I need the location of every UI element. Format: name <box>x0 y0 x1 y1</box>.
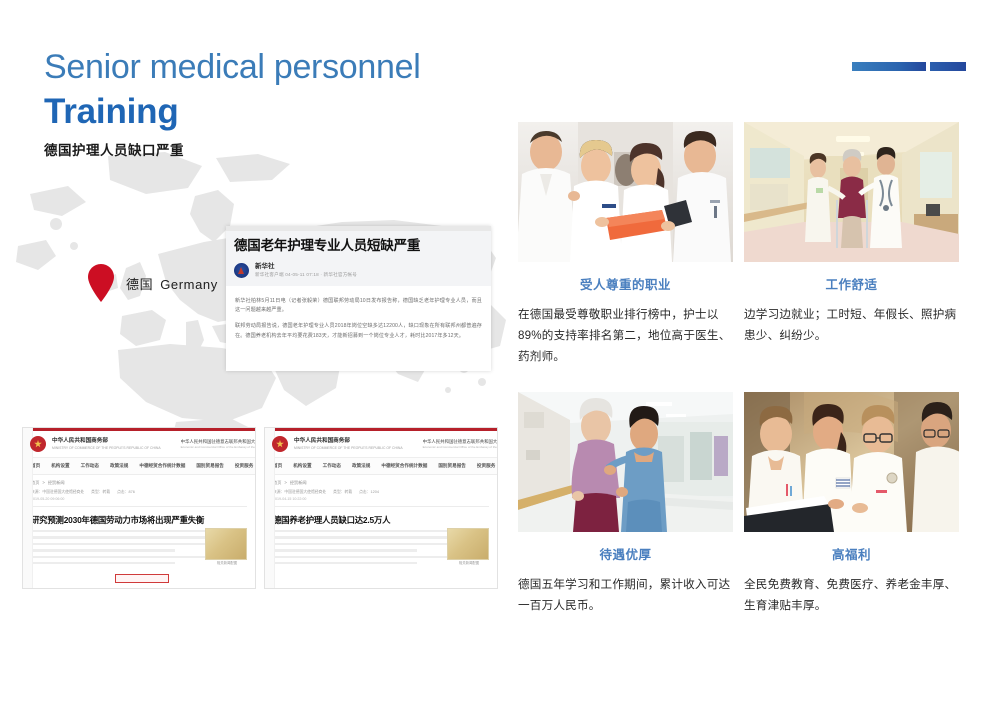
ws1-body-line <box>31 549 175 551</box>
germany-label-cn: 德国 <box>126 277 153 292</box>
ws1-subline-1: 类型：转载 <box>91 490 110 495</box>
ws1-breadcrumb[interactable]: 首页>经贸新闻 <box>23 475 255 486</box>
ws1-subline: 来源：中国驻德国大使馆经商处 类型：转载 点击：876 <box>23 486 255 495</box>
news-source-row: 新华社 新华社客户端 04-05-11 07:18 · 新华社官方帐号 <box>234 262 483 279</box>
ws1-nav[interactable]: 首页 机构设置 工作动态 政策法规 中德经贸合作统计数据 国别贸易报告 投资服务 <box>23 458 255 475</box>
deco-bar-short <box>930 62 966 71</box>
news-source-name: 新华社 <box>255 262 357 271</box>
ws1-breadcrumb-1[interactable]: 经贸新闻 <box>48 480 65 485</box>
ws1-sidebar <box>23 428 33 588</box>
tile-2-title: 工作舒适 <box>744 274 959 293</box>
ws1-nav-item-4[interactable]: 中德经贸合作统计数据 <box>139 463 185 469</box>
germany-label-en: Germany <box>160 277 218 292</box>
ws1-nav-item-2[interactable]: 工作动态 <box>81 463 99 469</box>
ws2-sidebar <box>265 428 275 588</box>
news-card-body: 新华社柏林5月11日电（记者张毅荣）德国联邦劳动局10日发布报告称，德国缺乏老年… <box>226 286 491 341</box>
tile-1-title: 受人尊重的职业 <box>518 274 733 293</box>
slide-root: Senior medical personnel Training 德国护理人员… <box>0 0 1006 716</box>
title-line-2: Training <box>44 90 514 134</box>
photo-tile-4: 高福利 全民免费教育、免费医疗、养老金丰厚、生育津贴丰厚。 <box>744 392 959 616</box>
news-card-title: 德国老年护理专业人员短缺严重 <box>234 237 483 255</box>
china-emblem-icon <box>272 436 288 452</box>
ws1-nav-item-1[interactable]: 机构设置 <box>51 463 69 469</box>
germany-label: 德国Germany <box>126 274 218 293</box>
map-pin-icon <box>88 264 114 302</box>
ws2-gov-name-cn: 中华人民共和国商务部 <box>294 437 403 445</box>
tile-1-body: 在德国最受尊敬职业排行榜中，护士以89%的支持率排名第二，地位高于医生、药剂师。 <box>518 304 733 367</box>
ws2-body-line <box>273 562 417 564</box>
tile-2-body: 边学习边就业；工时短、年假长、照护病患少、纠纷少。 <box>744 304 959 346</box>
news-paragraph-1: 新华社柏林5月11日电（记者张毅荣）德国联邦劳动局10日发布报告称，德国缺乏老年… <box>235 297 482 315</box>
tile-3-body: 德国五年学习和工作期间，累计收入可达一百万人民币。 <box>518 574 733 616</box>
ws1-gov-name-en: MINISTRY OF COMMERCE OF THE PEOPLE'S REP… <box>52 445 161 451</box>
news-article-card: 德国老年护理专业人员短缺严重 新华社 新华社客户端 04-05-11 07:18… <box>226 226 491 371</box>
ws1-gov-name-block: 中华人民共和国商务部 MINISTRY OF COMMERCE OF THE P… <box>52 437 161 451</box>
ws1-nav-item-6[interactable]: 投资服务 <box>235 463 253 469</box>
subtitle-chinese: 德国护理人员缺口严重 <box>44 141 514 161</box>
ws2-subline-2: 点击：1204 <box>359 490 379 495</box>
xinhua-logo-icon <box>234 263 249 278</box>
news-thumbnail-icon <box>205 528 247 560</box>
ws2-gov-name-block: 中华人民共和国商务部 MINISTRY OF COMMERCE OF THE P… <box>294 437 403 451</box>
ws1-gov-sub-cn: 中华人民共和国驻德意志联邦共和国大使馆经济商务处 <box>181 438 256 445</box>
website-screenshot-2: 中华人民共和国商务部 MINISTRY OF COMMERCE OF THE P… <box>264 427 498 589</box>
ws2-nav-item-4[interactable]: 中德经贸合作统计数据 <box>381 463 427 469</box>
ws2-gov-sub-block: 中华人民共和国驻德意志联邦共和国大使馆经济商务处 Economic and Co… <box>423 438 498 450</box>
photo-tile-1: 受人尊重的职业 在德国最受尊敬职业排行榜中，护士以89%的支持率排名第二，地位高… <box>518 122 733 367</box>
ws2-nav-item-6[interactable]: 投资服务 <box>477 463 495 469</box>
ws1-headline: 研究预测2030年德国劳动力市场将出现严重失衡 <box>23 507 255 526</box>
ws1-nav-item-5[interactable]: 国别贸易报告 <box>196 463 224 469</box>
news-meta: 新华社客户端 04-05-11 07:18 · 新华社官方帐号 <box>255 271 357 279</box>
ws2-nav-item-3[interactable]: 政策法规 <box>352 463 370 469</box>
ws2-gov-sub-cn: 中华人民共和国驻德意志联邦共和国大使馆经济商务处 <box>423 438 498 445</box>
news-paragraph-2: 联邦劳动局报告说，德国老年护理专业人员2018年岗位空缺多达12200人，缺口现… <box>235 322 482 340</box>
ws2-date: 2019-04-15 10:22:00 <box>265 495 497 501</box>
photo-tile-3: 待遇优厚 德国五年学习和工作期间，累计收入可达一百万人民币。 <box>518 392 733 616</box>
tile-4-body: 全民免费教育、免费医疗、养老金丰厚、生育津贴丰厚。 <box>744 574 959 616</box>
ws2-body-line <box>273 549 417 551</box>
nurse-with-elderly-photo <box>518 392 733 532</box>
tile-3-title: 待遇优厚 <box>518 544 733 563</box>
news-source-block: 新华社 新华社客户端 04-05-11 07:18 · 新华社官方帐号 <box>255 262 357 279</box>
decorative-bars <box>852 62 966 71</box>
ws1-highlight-mark <box>115 574 169 583</box>
photo-tile-2: 工作舒适 边学习边就业；工时短、年假长、照护病患少、纠纷少。 <box>744 122 959 346</box>
ws1-body-line <box>31 562 175 564</box>
ws1-subline-0: 来源：中国驻德国大使馆经商处 <box>31 490 84 495</box>
ws1-gov-sub-block: 中华人民共和国驻德意志联邦共和国大使馆经济商务处 Economic and Co… <box>181 438 256 450</box>
page-title: Senior medical personnel Training 德国护理人员… <box>44 46 514 161</box>
ws2-headline: 德国养老护理人员缺口达2.5万人 <box>265 507 497 526</box>
ws2-gov-name-en: MINISTRY OF COMMERCE OF THE PEOPLE'S REP… <box>294 445 403 451</box>
ws2-gov-header: 中华人民共和国商务部 MINISTRY OF COMMERCE OF THE P… <box>265 431 497 458</box>
website-screenshot-1: 中华人民共和国商务部 MINISTRY OF COMMERCE OF THE P… <box>22 427 256 589</box>
news-thumbnail-icon <box>447 528 489 560</box>
ws1-gov-header: 中华人民共和国商务部 MINISTRY OF COMMERCE OF THE P… <box>23 431 255 458</box>
ws2-nav-item-5[interactable]: 国别贸易报告 <box>438 463 466 469</box>
ws1-subline-2: 点击：876 <box>117 490 135 495</box>
china-emblem-icon <box>30 436 46 452</box>
ws2-thumb-caption: 相关新闻配图 <box>449 560 489 565</box>
tile-4-title: 高福利 <box>744 544 959 563</box>
ws1-nav-item-3[interactable]: 政策法规 <box>110 463 128 469</box>
deco-bar-long <box>852 62 926 71</box>
ws1-date: 2019-05-20 09:06:00 <box>23 495 255 501</box>
ws2-nav-item-1[interactable]: 机构设置 <box>293 463 311 469</box>
doctors-team-photo <box>518 122 733 262</box>
ws2-subline-1: 类型：转载 <box>333 490 352 495</box>
ws2-nav[interactable]: 首页 机构设置 工作动态 政策法规 中德经贸合作统计数据 国别贸易报告 投资服务 <box>265 458 497 475</box>
ws2-breadcrumb-1[interactable]: 经贸新闻 <box>290 480 307 485</box>
ws1-gov-name-cn: 中华人民共和国商务部 <box>52 437 161 445</box>
germany-marker: 德国Germany <box>88 264 218 302</box>
hospital-corridor-photo <box>744 122 959 262</box>
ws2-subline: 来源：中国驻德国大使馆经商处 类型：转载 点击：1204 <box>265 486 497 495</box>
ws2-breadcrumb[interactable]: 首页>经贸新闻 <box>265 475 497 486</box>
nursing-staff-photo <box>744 392 959 532</box>
ws1-gov-sub-en: Economic and Commercial Office of the Em… <box>181 445 256 450</box>
ws2-subline-0: 来源：中国驻德国大使馆经商处 <box>273 490 326 495</box>
title-line-1: Senior medical personnel <box>44 46 514 88</box>
ws2-nav-item-2[interactable]: 工作动态 <box>323 463 341 469</box>
ws2-gov-sub-en: Economic and Commercial Office of the Em… <box>423 445 498 450</box>
ws1-thumb-caption: 相关新闻配图 <box>207 560 247 565</box>
news-card-header: 德国老年护理专业人员短缺严重 新华社 新华社客户端 04-05-11 07:18… <box>226 231 491 286</box>
